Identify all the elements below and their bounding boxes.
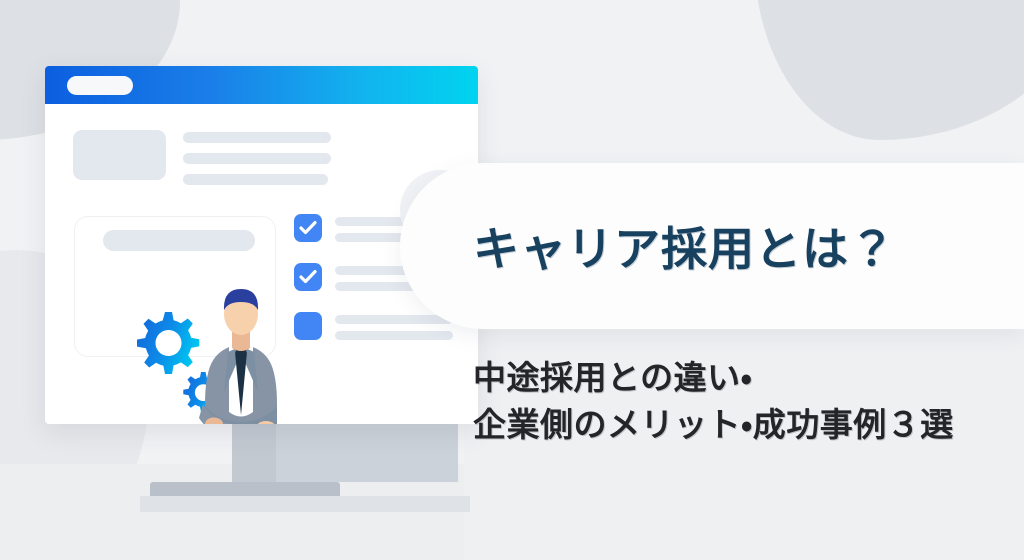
businessman-figure (171, 288, 311, 424)
content-text-line (183, 174, 328, 185)
inner-card-title-pill (103, 230, 255, 251)
title-card: キャリア採用とは？ (400, 163, 1024, 329)
content-text-line (183, 132, 331, 143)
poster-canvas: キャリア採用とは？ 中途採用との違い・ 企業側のメリット・成功事例３選 (0, 0, 1024, 560)
checkbox-checked-1[interactable] (294, 214, 322, 242)
desk-block (258, 420, 458, 482)
desk-shadow (140, 496, 470, 512)
subtitle-block: 中途採用との違い・ 企業側のメリット・成功事例３選 (473, 355, 1018, 449)
checklist-text-line (335, 331, 453, 340)
check-icon (299, 220, 317, 236)
person-icon (171, 288, 311, 424)
checkbox-checked-2[interactable] (294, 263, 322, 291)
browser-url-pill (67, 76, 133, 95)
content-thumbnail-placeholder (73, 130, 166, 180)
subtitle-line-2: 企業側のメリット・成功事例３選 (473, 402, 1018, 449)
checklist-text-line (335, 315, 453, 324)
content-text-line (183, 153, 331, 164)
check-icon (299, 269, 317, 285)
subtitle-line-1: 中途採用との違い・ (473, 355, 1018, 402)
page-title: キャリア採用とは？ (473, 213, 896, 279)
